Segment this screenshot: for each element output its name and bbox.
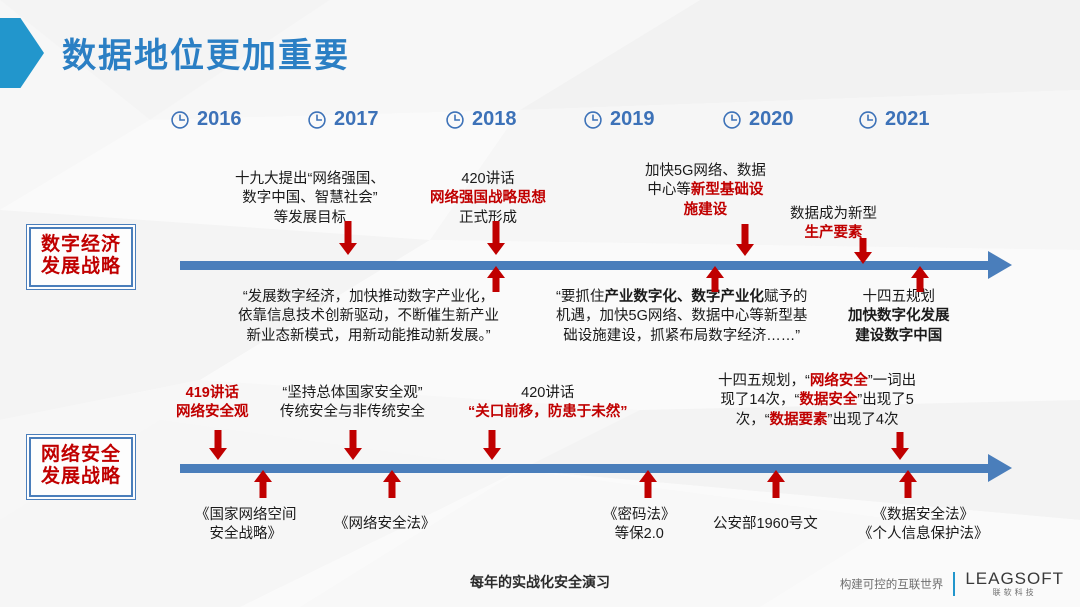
note-line: 420讲话 [430, 170, 546, 189]
marker-arrow-down [343, 430, 363, 460]
note-bottom-below-1: 《国家网络空间 安全战略》 [195, 506, 297, 545]
slide-canvas: 数据地位更加重要 2016 2017 2018 [0, 0, 1080, 607]
brand-logo: LEAGSOFT 联软科技 [965, 570, 1064, 597]
note-bottom-above-1: 419讲话 网络安全观 [176, 384, 249, 423]
note-bottom-below-4: 公安部1960号文 [713, 515, 818, 534]
note-line: “关口前移，防患于未然” [468, 403, 628, 422]
note-line: 十九大提出“网络强国、 [235, 170, 385, 189]
note-line: 《国家网络空间 [195, 506, 297, 525]
timeline-axis-bottom [180, 464, 990, 473]
note-bottom-above-2: “坚持总体国家安全观” 传统安全与非传统安全 [280, 384, 425, 423]
note-line: “发展数字经济，加快推动数字产业化， [238, 288, 499, 307]
brand-divider [953, 572, 955, 596]
note-top-above-3: 加快5G网络、数据 中心等新型基础设 施建设 [645, 162, 766, 220]
note-line: “坚持总体国家安全观” [280, 384, 425, 403]
marker-arrow-up [253, 470, 273, 498]
clock-icon [307, 110, 327, 130]
marker-arrow-down [853, 238, 873, 264]
note-line: 加快5G网络、数据 [645, 162, 766, 181]
year-marker-row: 2016 2017 2018 2019 [0, 108, 1080, 142]
note-line: 加快数字化发展 [848, 307, 950, 326]
note-bottom-above-3: 420讲话 “关口前移，防患于未然” [468, 384, 628, 423]
page-title: 数据地位更加重要 [62, 28, 350, 77]
stage-label-digital-economy: 数字经济 发展战略 [26, 224, 136, 290]
note-line: 现了14次，“数据安全”出现了5 [718, 391, 916, 410]
marker-arrow-up [910, 266, 930, 292]
note-line: 《网络安全法》 [334, 515, 436, 534]
year-label: 2017 [334, 108, 379, 131]
note-line: 次，“数据要素”出现了4次 [718, 411, 916, 430]
stage-label-cybersecurity: 网络安全 发展战略 [26, 434, 136, 500]
timeline-axis-bottom-arrowhead [988, 454, 1012, 482]
note-top-below-2: “要抓住产业数字化、数字产业化赋予的 机遇，加快5G网络、数据中心等新型基 础设… [556, 288, 807, 346]
note-line: 公安部1960号文 [713, 515, 818, 534]
note-line: 网络安全观 [176, 403, 249, 422]
year-marker-2019: 2019 [583, 108, 655, 131]
note-line: 础设施建设，抓紧布局数字经济……” [556, 327, 807, 346]
brand-name-cn: 联软科技 [993, 589, 1037, 597]
stage-label-line1: 数字经济 [41, 234, 121, 256]
brand-tagline: 构建可控的互联世界 [840, 576, 944, 592]
marker-arrow-down [486, 221, 506, 255]
note-bottom-below-3: 《密码法》 等保2.0 [603, 506, 676, 545]
note-line: 机遇，加快5G网络、数据中心等新型基 [556, 307, 807, 326]
clock-icon [445, 110, 465, 130]
note-bottom-above-4: 十四五规划，“网络安全”一词出 现了14次，“数据安全”出现了5 次，“数据要素… [718, 372, 916, 430]
marker-arrow-down [735, 224, 755, 256]
marker-arrow-down [338, 221, 358, 255]
note-top-below-1: “发展数字经济，加快推动数字产业化， 依靠信息技术创新驱动，不断催生新产业 新业… [238, 288, 499, 346]
note-top-below-3: 十四五规划 加快数字化发展 建设数字中国 [848, 288, 950, 346]
year-marker-2017: 2017 [307, 108, 379, 131]
marker-arrow-up [898, 470, 918, 498]
note-line: 数字中国、智慧社会” [235, 189, 385, 208]
note-line: 《密码法》 [603, 506, 676, 525]
note-line: 安全战略》 [195, 525, 297, 544]
note-line: 中心等新型基础设 [645, 181, 766, 200]
note-bottom-below-5: 《数据安全法》 《个人信息保护法》 [858, 506, 989, 545]
clock-icon [722, 110, 742, 130]
note-line: 网络强国战略思想 [430, 189, 546, 208]
marker-arrow-up [486, 266, 506, 292]
note-top-above-2: 420讲话 网络强国战略思想 正式形成 [430, 170, 546, 228]
note-line: 新业态新模式，用新动能推动新发展。” [238, 327, 499, 346]
note-line: 施建设 [645, 201, 766, 220]
marker-arrow-down [208, 430, 228, 460]
brand-name-en: LEAGSOFT [965, 570, 1064, 587]
year-marker-2018: 2018 [445, 108, 517, 131]
marker-arrow-up [382, 470, 402, 498]
note-line: 《个人信息保护法》 [858, 525, 989, 544]
stage-label-line1: 网络安全 [41, 444, 121, 466]
marker-arrow-up [705, 266, 725, 292]
year-label: 2020 [749, 108, 794, 131]
note-line: 依靠信息技术创新驱动，不断催生新产业 [238, 307, 499, 326]
brand-block: 构建可控的互联世界 LEAGSOFT 联软科技 [840, 570, 1064, 597]
clock-icon [858, 110, 878, 130]
stage-label-line2: 发展战略 [41, 256, 121, 278]
note-bottom-below-2: 《网络安全法》 [334, 515, 436, 534]
note-line: 十四五规划，“网络安全”一词出 [718, 372, 916, 391]
stage-label-line2: 发展战略 [41, 466, 121, 488]
year-label: 2021 [885, 108, 930, 131]
note-line: 建设数字中国 [848, 327, 950, 346]
note-line: 420讲话 [468, 384, 628, 403]
note-line: 等发展目标 [235, 209, 385, 228]
year-label: 2018 [472, 108, 517, 131]
clock-icon [170, 110, 190, 130]
marker-arrow-down [890, 432, 910, 460]
note-line: 十四五规划 [848, 288, 950, 307]
year-label: 2016 [197, 108, 242, 131]
note-line: 《数据安全法》 [858, 506, 989, 525]
note-line: 等保2.0 [603, 525, 676, 544]
note-line: 传统安全与非传统安全 [280, 403, 425, 422]
note-top-above-1: 十九大提出“网络强国、 数字中国、智慧社会” 等发展目标 [235, 170, 385, 228]
year-label: 2019 [610, 108, 655, 131]
clock-icon [583, 110, 603, 130]
year-marker-2021: 2021 [858, 108, 930, 131]
year-marker-2016: 2016 [170, 108, 242, 131]
note-line: 数据成为新型 [790, 205, 877, 224]
timeline-axis-top-arrowhead [988, 251, 1012, 279]
marker-arrow-up [638, 470, 658, 498]
marker-arrow-up [766, 470, 786, 498]
note-line: 419讲话 [176, 384, 249, 403]
year-marker-2020: 2020 [722, 108, 794, 131]
marker-arrow-down [482, 430, 502, 460]
note-line: “要抓住产业数字化、数字产业化赋予的 [556, 288, 807, 307]
